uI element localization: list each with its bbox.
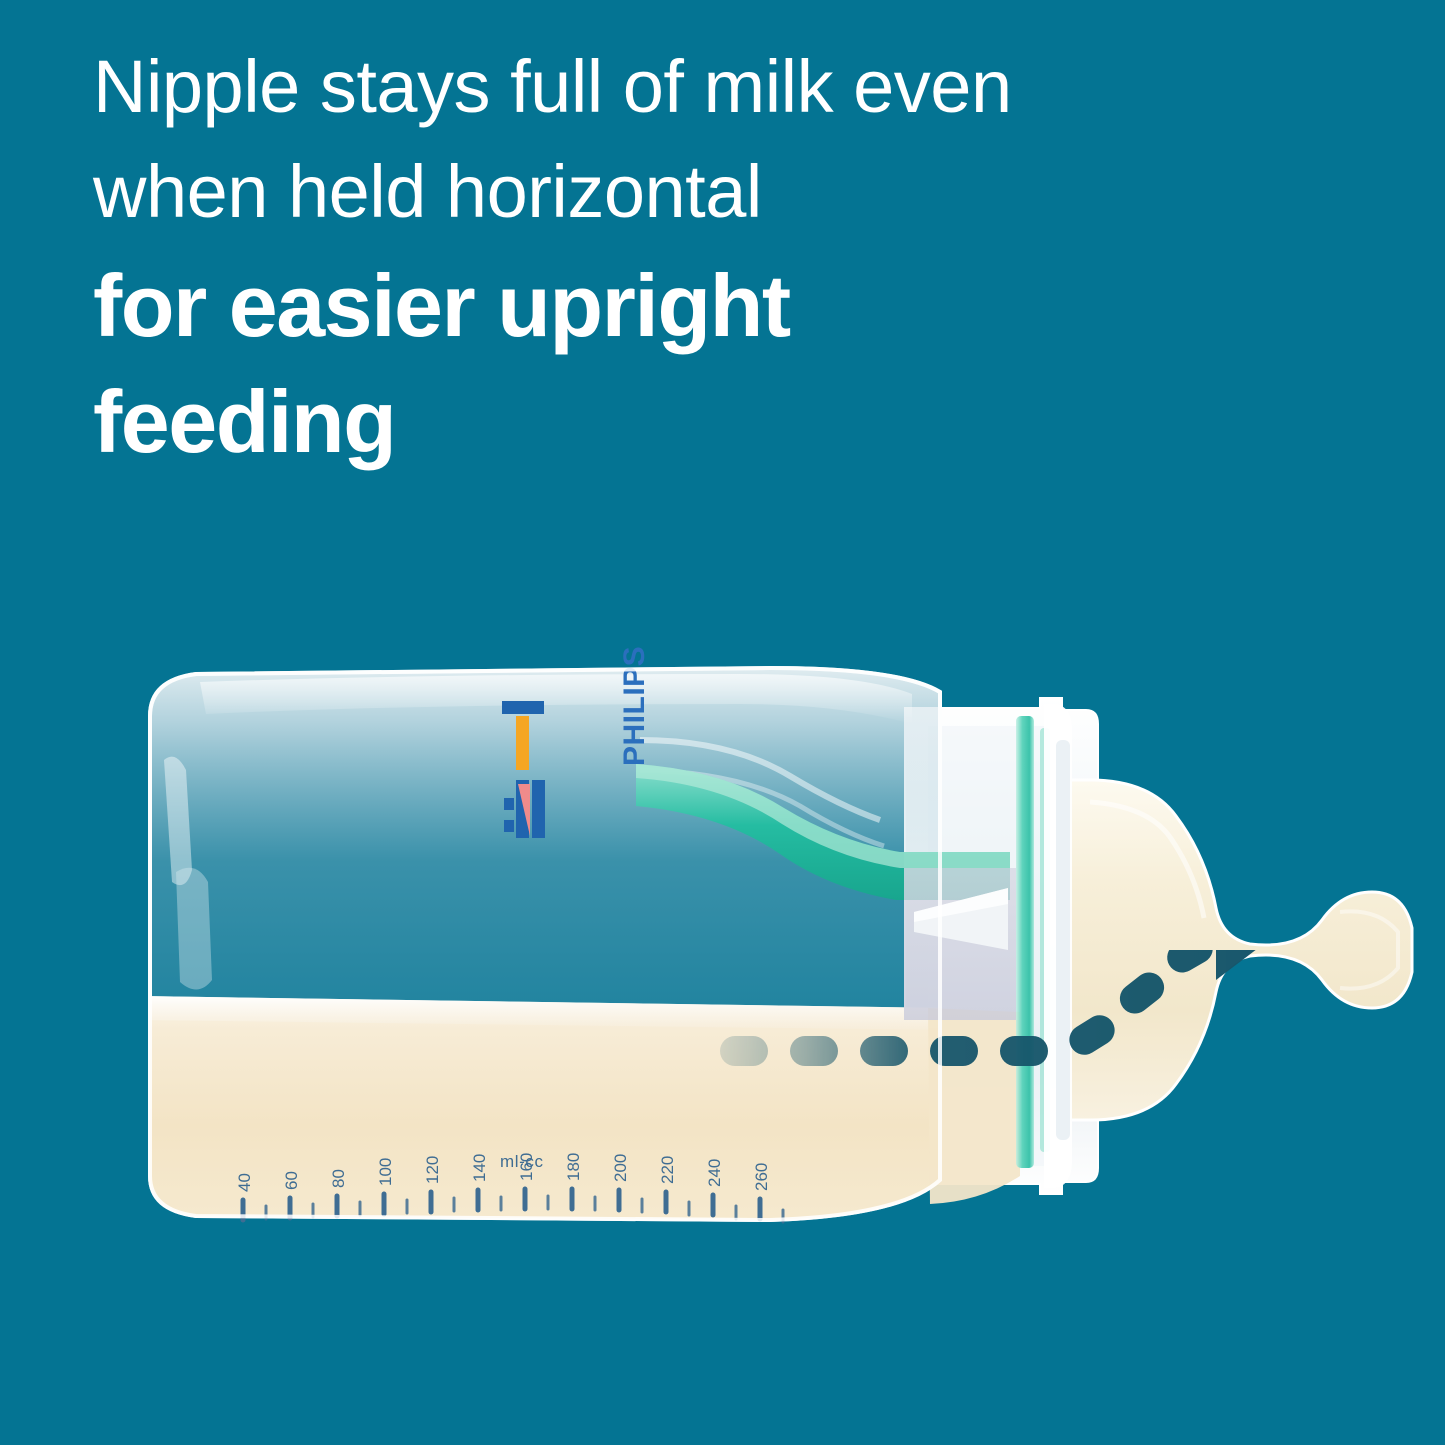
svg-text:80: 80 xyxy=(329,1169,348,1188)
headline-bold-line-2: feeding xyxy=(93,364,1273,480)
bottle-body xyxy=(140,668,1020,1232)
headline-light-line-2: when held horizontal xyxy=(93,139,1273,244)
svg-text:140: 140 xyxy=(470,1154,489,1182)
headline-light-line-1: Nipple stays full of milk even xyxy=(93,34,1273,139)
headline-bold-line-1: for easier upright xyxy=(93,248,1273,364)
ring-front-lip xyxy=(1044,704,1072,1188)
headline-light: Nipple stays full of milk even when held… xyxy=(93,34,1273,244)
svg-text:160: 160 xyxy=(517,1153,536,1181)
svg-text:200: 200 xyxy=(611,1154,630,1182)
svg-text:100: 100 xyxy=(376,1158,395,1186)
svg-text:240: 240 xyxy=(705,1159,724,1187)
svg-text:60: 60 xyxy=(282,1171,301,1190)
svg-text:180: 180 xyxy=(564,1153,583,1181)
headline-block: Nipple stays full of milk even when held… xyxy=(93,34,1273,480)
vent-inner-tube xyxy=(904,868,1016,1020)
product-illustration: PHILIPS ml-cc xyxy=(0,620,1445,1340)
milk-volume xyxy=(140,996,950,1232)
philips-wordmark: PHILIPS xyxy=(618,646,651,766)
product-feature-card: Nipple stays full of milk even when held… xyxy=(0,0,1445,1445)
svg-text:120: 120 xyxy=(423,1156,442,1184)
svg-text:220: 220 xyxy=(658,1156,677,1184)
svg-text:260: 260 xyxy=(752,1163,771,1191)
svg-text:40: 40 xyxy=(235,1173,254,1192)
headline-bold: for easier upright feeding xyxy=(93,248,1273,480)
